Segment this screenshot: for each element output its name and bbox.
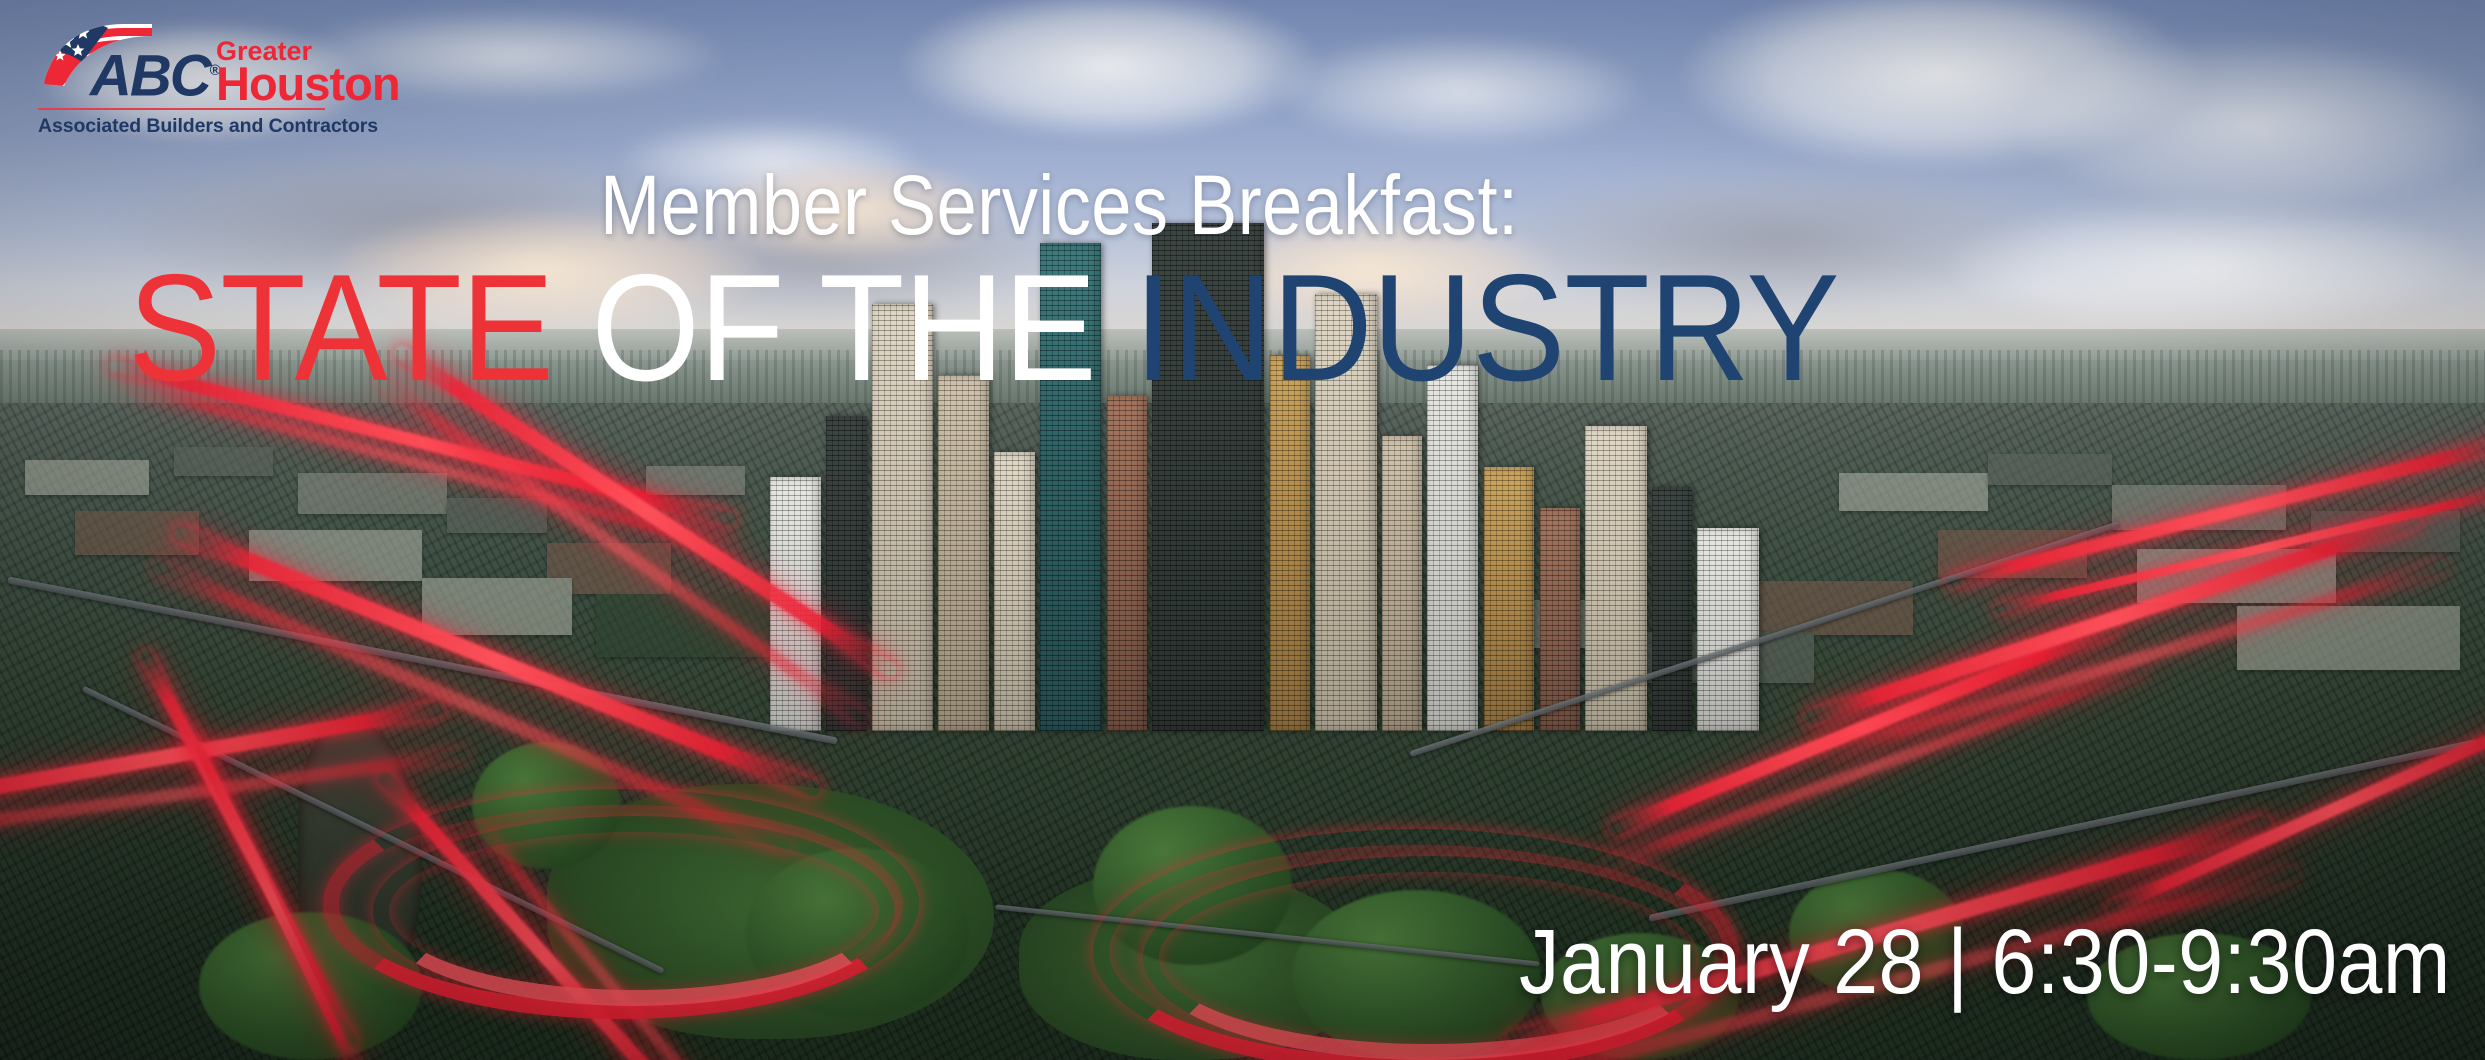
logo-chapter-houston: Houston xyxy=(216,60,400,107)
event-headline: STATE OF THE INDUSTRY xyxy=(128,252,1839,404)
event-datetime: January 28 | 6:30-9:30am xyxy=(1519,916,2451,1008)
abc-greater-houston-logo[interactable]: ABC® Greater Houston Associated Builders… xyxy=(38,18,338,138)
headline-part-state: STATE xyxy=(128,243,553,413)
event-kicker: Member Services Breakfast: xyxy=(600,163,1518,247)
headline-part-industry: INDUSTRY xyxy=(1134,243,1839,413)
cloud xyxy=(1950,200,2470,330)
event-promo-banner: ABC® Greater Houston Associated Builders… xyxy=(0,0,2485,1060)
headline-part-of-the: OF THE xyxy=(591,243,1096,413)
cloud xyxy=(2020,40,2485,210)
cloud xyxy=(1280,36,1640,146)
abc-wordmark: ABC® xyxy=(90,42,219,105)
logo-tagline: Associated Builders and Contractors xyxy=(38,115,338,138)
